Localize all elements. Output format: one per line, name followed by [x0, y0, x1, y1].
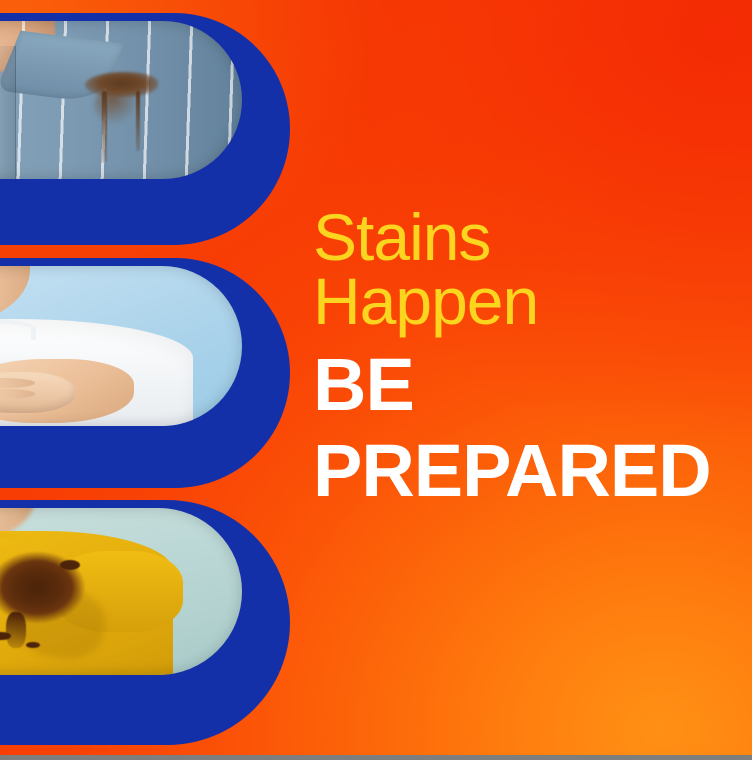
child-head — [0, 266, 30, 327]
chocolate-drip — [6, 612, 26, 649]
coffee-stain-scene — [0, 21, 242, 179]
category-card-sauces[interactable]: SAUCES — [0, 258, 290, 488]
stain-ad-banner: DRINKS SAUCES — [0, 0, 752, 760]
coffee-stain — [85, 72, 159, 97]
chocolate-stain-scene — [0, 508, 242, 675]
headline-line-4: PREPARED — [313, 419, 749, 505]
headline-line-2: Happen — [313, 269, 749, 333]
bottom-edge-strip — [0, 755, 752, 760]
sauce-stain-scene — [0, 266, 242, 426]
chocolate-splatter — [60, 560, 80, 570]
headline-block: Stains Happen BE PREPARED — [313, 205, 749, 505]
coffee-drip-2 — [136, 91, 140, 151]
headline-line-3: BE — [313, 333, 749, 419]
category-card-food[interactable]: FOOD — [0, 500, 290, 745]
category-card-drinks[interactable]: DRINKS — [0, 13, 290, 245]
category-photo-drinks — [0, 21, 242, 179]
coffee-drip-1 — [102, 91, 107, 164]
category-photo-food — [0, 508, 242, 675]
headline-line-1: Stains — [313, 205, 749, 269]
category-photo-sauces — [0, 266, 242, 426]
shirt-placket — [0, 46, 16, 179]
